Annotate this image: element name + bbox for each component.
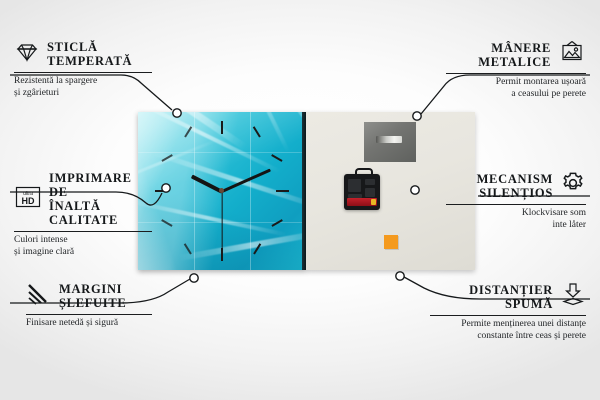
arrow-down-to-surface-icon bbox=[560, 282, 586, 311]
callout-metal-handles: MÂNERE METALICE Permit montarea ușoară a… bbox=[446, 40, 586, 100]
callout-silent-mechanism: MECANISM SILENȚIOS Klockvisare som inte … bbox=[446, 171, 586, 231]
callout-subtitle: Culori intense și imagine clară bbox=[14, 235, 154, 258]
callout-rule bbox=[446, 73, 586, 74]
callout-rule bbox=[14, 72, 152, 73]
battery bbox=[347, 198, 377, 206]
bracket-slot bbox=[376, 136, 402, 143]
callout-subtitle: Klockvisare som inte låter bbox=[446, 208, 586, 231]
callout-rule bbox=[446, 204, 586, 205]
connector-dot-polished-edges bbox=[190, 274, 198, 282]
callout-title: DISTANȚIER SPUMĂ bbox=[469, 283, 553, 311]
callout-rule bbox=[14, 231, 152, 232]
callout-subtitle: Rezistentă la spargere și zgârieturi bbox=[14, 76, 154, 99]
hand-center-cap bbox=[219, 188, 224, 193]
callout-foam-spacer: DISTANȚIER SPUMĂ Permite menținerea unei… bbox=[430, 282, 586, 342]
callout-title: MECANISM SILENȚIOS bbox=[477, 172, 553, 200]
connector-dot-foam-spacer bbox=[396, 272, 404, 280]
mechanism-hanging-loop bbox=[355, 168, 373, 178]
battery-positive-tip bbox=[371, 199, 376, 205]
callout-hd-print: ultra HD IMPRIMARE DE ÎNALTĂ CALITATE Cu… bbox=[14, 171, 154, 258]
callout-title: MÂNERE METALICE bbox=[478, 41, 551, 69]
callout-subtitle: Finisare netedă și sigură bbox=[26, 318, 158, 330]
product-image bbox=[138, 112, 475, 270]
callout-title: IMPRIMARE DE ÎNALTĂ CALITATE bbox=[49, 171, 154, 227]
callout-title: STICLĂ TEMPERATĂ bbox=[47, 40, 132, 68]
callout-rule bbox=[430, 315, 586, 316]
picture-frame-icon bbox=[558, 40, 586, 69]
diamond-icon bbox=[14, 41, 40, 68]
clock-face bbox=[138, 112, 306, 270]
callout-title: MARGINI ȘLEFUITE bbox=[59, 282, 126, 310]
gear-icon bbox=[560, 171, 586, 200]
foam-spacer bbox=[384, 235, 398, 249]
clock-mechanism bbox=[344, 174, 380, 210]
callout-subtitle: Permite menținerea unei distanțe constan… bbox=[430, 319, 586, 342]
diagonal-stripes-icon bbox=[26, 283, 52, 310]
svg-text:HD: HD bbox=[22, 196, 35, 206]
second-hand bbox=[221, 191, 222, 251]
callout-polished-edges: MARGINI ȘLEFUITE Finisare netedă și sigu… bbox=[26, 282, 158, 330]
metal-hanger-bracket bbox=[364, 122, 416, 162]
callout-subtitle: Permit montarea ușoară a ceasului pe per… bbox=[446, 77, 586, 100]
callout-tempered-glass: STICLĂ TEMPERATĂ Rezistentă la spargere … bbox=[14, 40, 154, 99]
product-infographic: STICLĂ TEMPERATĂ Rezistentă la spargere … bbox=[0, 0, 600, 400]
callout-rule bbox=[26, 314, 152, 315]
ultra-hd-icon: ultra HD bbox=[14, 185, 42, 214]
